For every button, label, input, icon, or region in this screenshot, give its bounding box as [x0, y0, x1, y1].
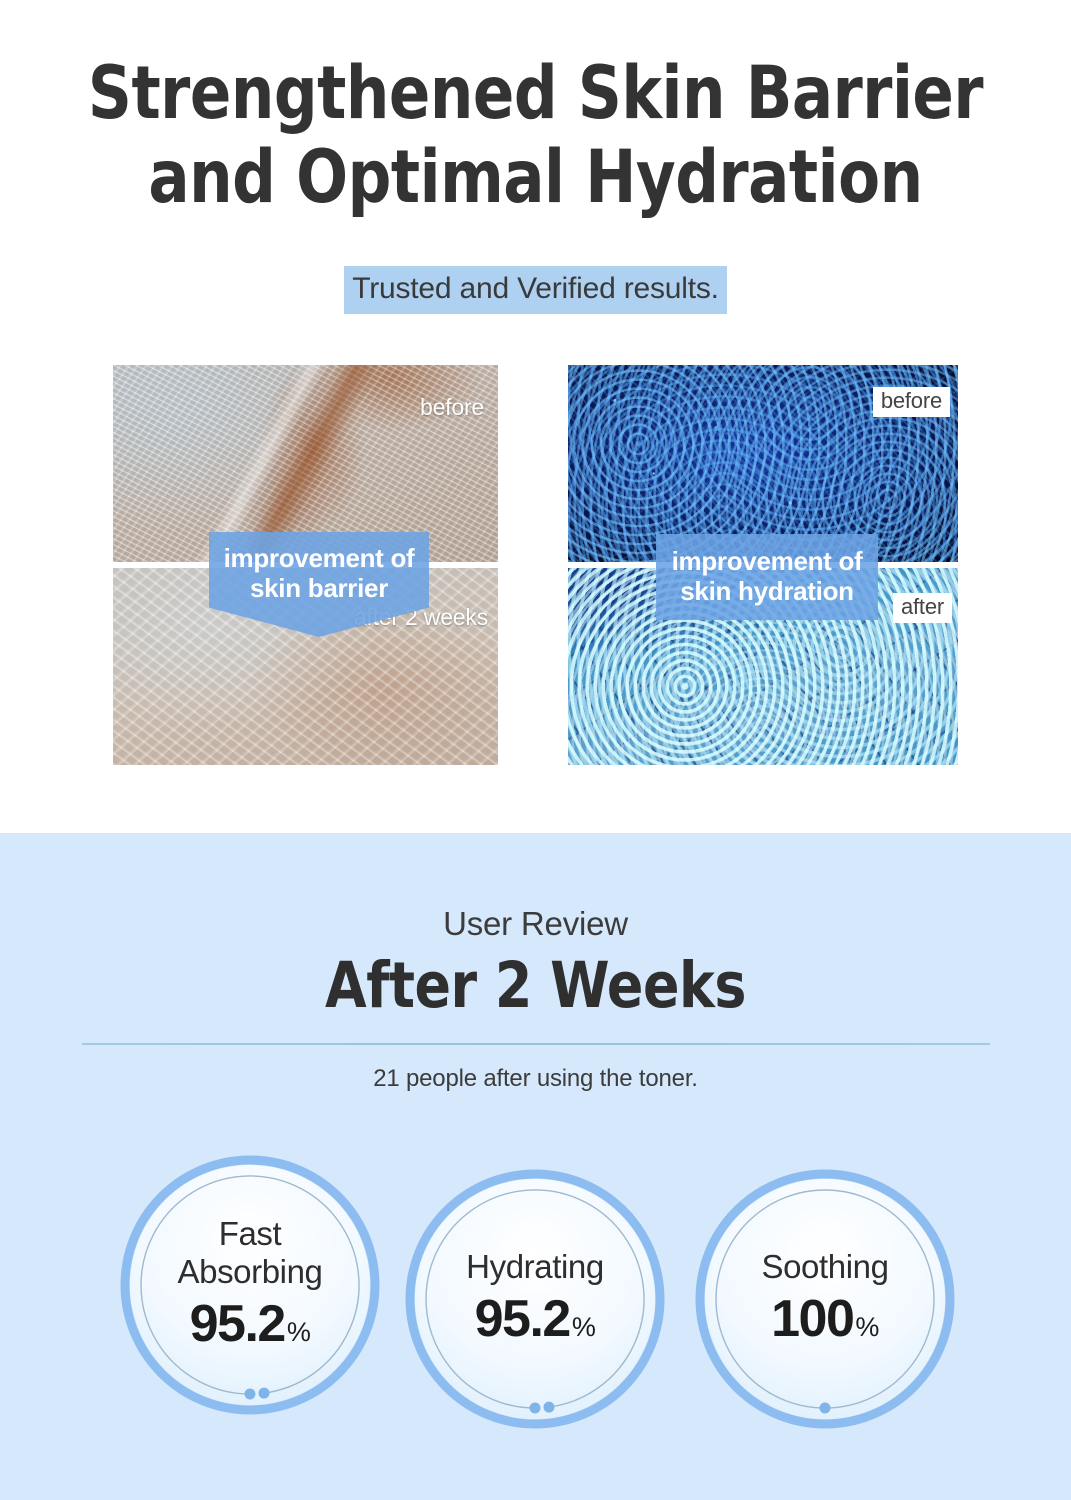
- stat-value-row: 100%: [771, 1290, 879, 1356]
- stat-content: Fast Absorbing 95.2%: [117, 1152, 383, 1418]
- skin-hydration-panel: before after improvement of skin hydrati…: [568, 365, 958, 765]
- page-title: Strengthened Skin Barrier and Optimal Hy…: [37, 52, 1033, 220]
- before-label: before: [873, 387, 950, 417]
- stat-value: 95.2: [475, 1290, 570, 1348]
- stat-circle-hydrating: Hydrating 95.2%: [402, 1166, 668, 1432]
- review-title: After 2 Weeks: [27, 951, 1044, 1021]
- user-review-section: User Review After 2 Weeks 21 people afte…: [0, 833, 1071, 1500]
- stat-label: Soothing: [761, 1248, 888, 1286]
- results-section: Strengthened Skin Barrier and Optimal Hy…: [0, 0, 1071, 833]
- stat-circle-fast-absorbing: Fast Absorbing 95.2%: [117, 1152, 383, 1418]
- stat-value-row: 95.2%: [475, 1290, 596, 1356]
- stat-value-row: 95.2%: [190, 1295, 311, 1361]
- review-kicker: User Review: [0, 905, 1071, 943]
- stat-content: Soothing 100%: [692, 1166, 958, 1432]
- subtitle-row: Trusted and Verified results.: [0, 266, 1071, 314]
- infographic-page: Strengthened Skin Barrier and Optimal Hy…: [0, 0, 1071, 1500]
- stat-value: 95.2: [190, 1295, 285, 1353]
- review-sample-note: 21 people after using the toner.: [0, 1065, 1071, 1093]
- after-label: after: [893, 593, 952, 623]
- stat-circle-soothing: Soothing 100%: [692, 1166, 958, 1432]
- stat-label: Hydrating: [466, 1248, 604, 1286]
- section-divider: [82, 1043, 990, 1045]
- skin-hydration-banner: improvement of skin hydration: [656, 534, 878, 620]
- subtitle-highlight: Trusted and Verified results.: [344, 266, 727, 314]
- stat-content: Hydrating 95.2%: [402, 1166, 668, 1432]
- skin-hydration-before-photo: before: [568, 365, 958, 562]
- skin-barrier-panel: before after 2 weeks improvement of skin…: [113, 365, 498, 765]
- stat-unit: %: [287, 1303, 311, 1361]
- stat-value: 100: [771, 1290, 853, 1348]
- stat-unit: %: [572, 1298, 596, 1356]
- stat-circle-group: Fast Absorbing 95.2%: [0, 1133, 1071, 1463]
- before-label: before: [420, 394, 484, 421]
- stat-label: Fast Absorbing: [178, 1215, 323, 1291]
- stat-unit: %: [855, 1298, 879, 1356]
